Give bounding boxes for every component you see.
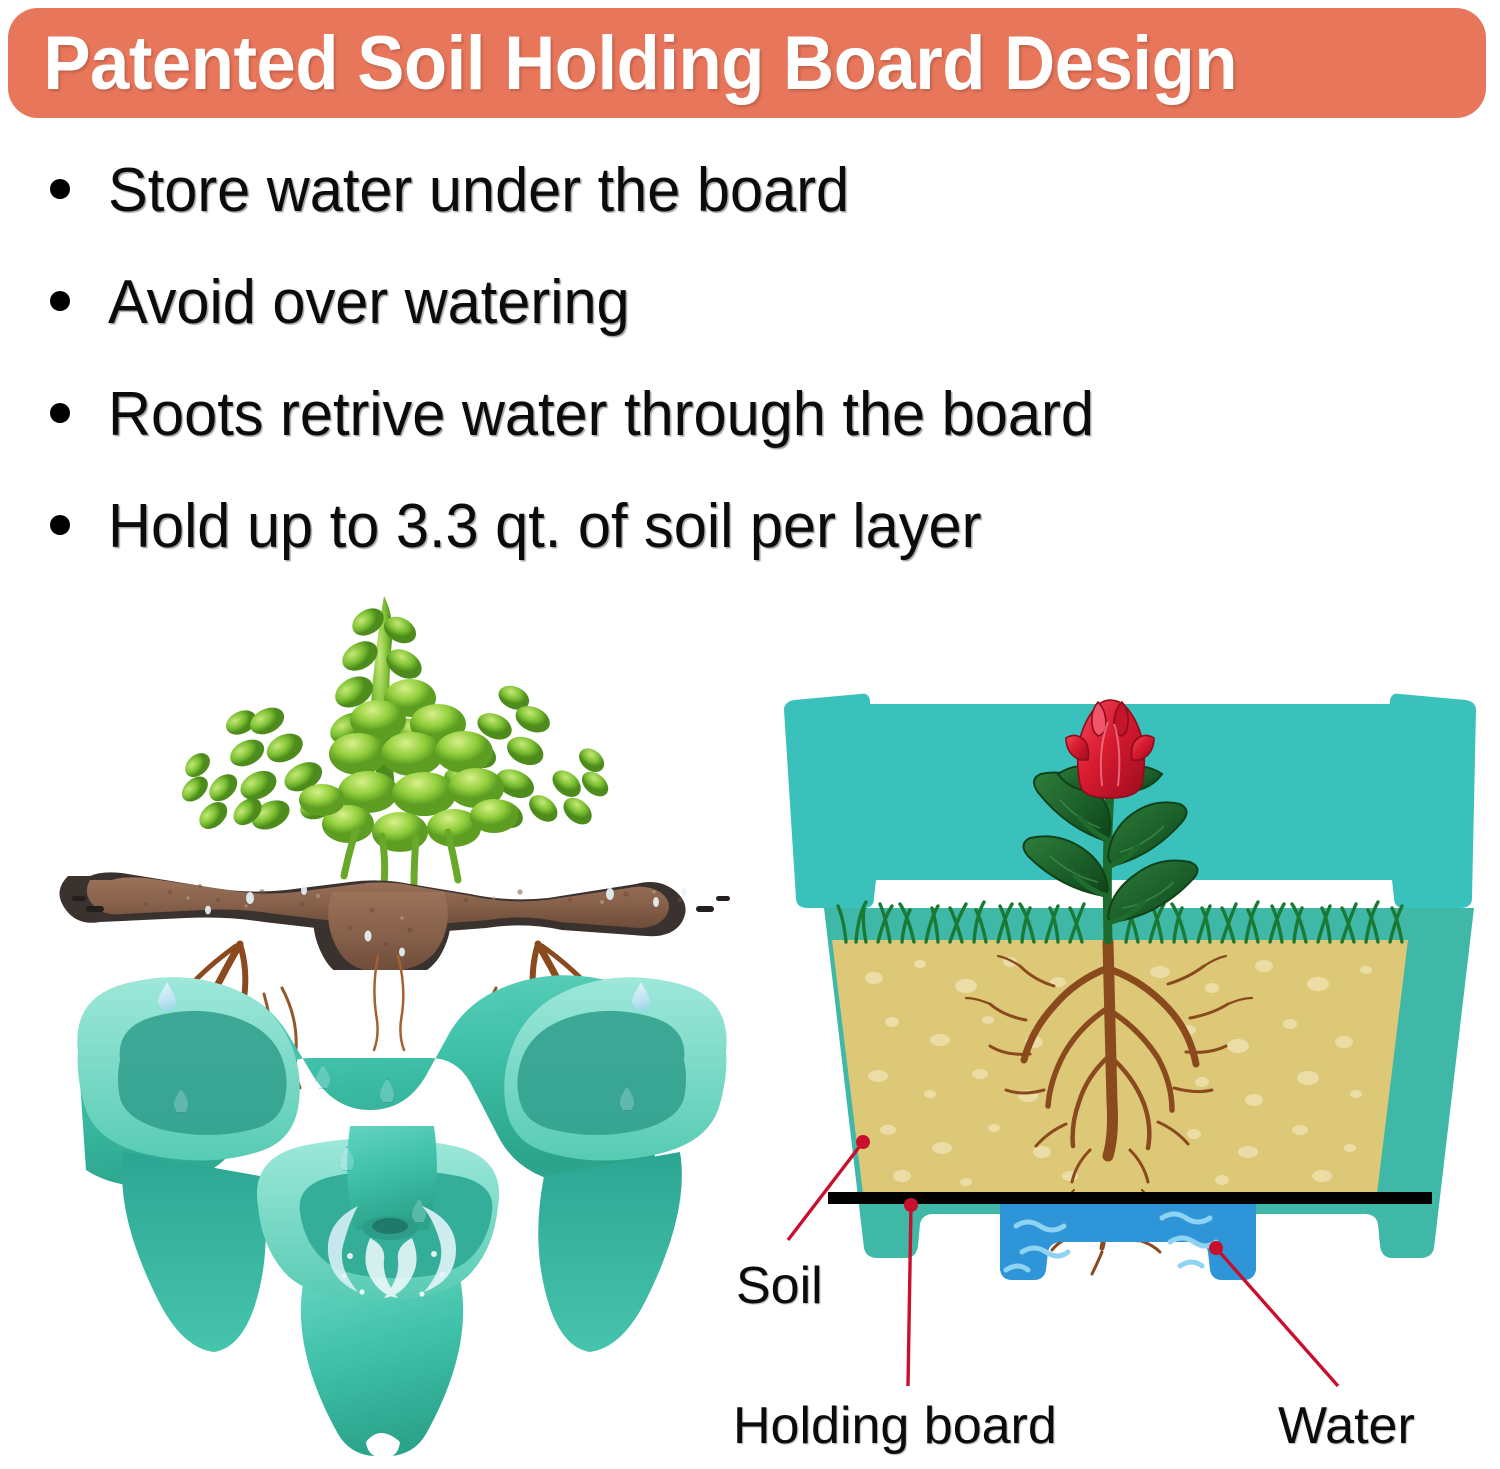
- page-title: Patented Soil Holding Board Design: [8, 20, 1237, 107]
- feature-text: Avoid over watering: [108, 267, 630, 338]
- list-item: Store water under the board: [50, 155, 1470, 267]
- callout-label-holding-board: Holding board: [733, 1396, 1057, 1456]
- bullet-dot-icon: [50, 403, 70, 423]
- header-banner: Patented Soil Holding Board Design: [8, 8, 1486, 118]
- cross-section-diagram-right: [770, 690, 1490, 1330]
- feature-text: Hold up to 3.3 qt. of soil per layer: [108, 491, 981, 562]
- callout-label-soil: Soil: [736, 1256, 823, 1316]
- list-item: Avoid over watering: [50, 267, 1470, 379]
- product-photo-left: [42, 586, 762, 1466]
- list-item: Roots retrive water through the board: [50, 379, 1470, 491]
- feature-list: Store water under the board Avoid over w…: [50, 155, 1470, 603]
- feature-text: Roots retrive water through the board: [108, 379, 1094, 450]
- callout-label-water: Water: [1278, 1396, 1415, 1456]
- bullet-dot-icon: [50, 179, 70, 199]
- bullet-dot-icon: [50, 515, 70, 535]
- holding-board-line: [828, 1192, 1432, 1204]
- water-reservoir: [1000, 1204, 1256, 1280]
- bullet-dot-icon: [50, 291, 70, 311]
- feature-text: Store water under the board: [108, 155, 849, 226]
- three-pocket-planter: [62, 956, 742, 1456]
